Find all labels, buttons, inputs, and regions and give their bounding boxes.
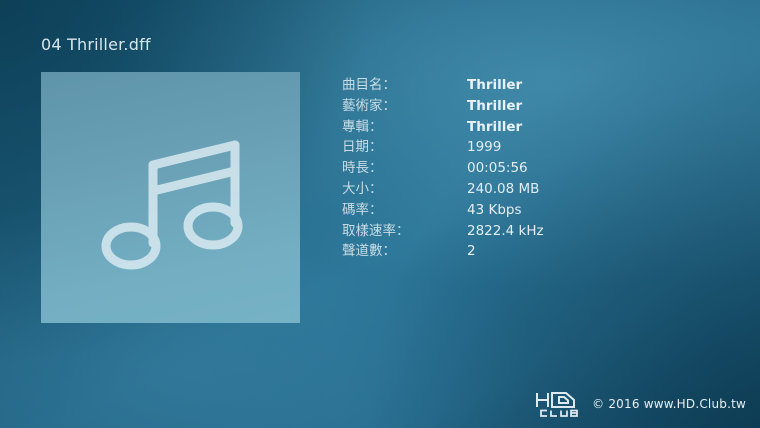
watermark-text: © 2016 www.HD.Club.tw [592,397,746,411]
music-note-icon [97,118,245,278]
album-art-panel [41,72,300,323]
metadata-row-sample-rate: 取樣速率： 2822.4 kHz [342,219,702,240]
metadata-label-album: 專輯： [342,115,467,135]
metadata-row-track-title: 曲目名： Thriller [342,73,702,94]
metadata-label-duration: 時長： [342,156,467,176]
watermark: © 2016 www.HD.Club.tw [535,390,746,418]
metadata-value-date: 1999 [467,139,501,155]
metadata-row-date: 日期： 1999 [342,135,702,156]
metadata-value-filesize: 240.08 MB [467,181,539,197]
metadata-value-track-title: Thriller [467,77,522,93]
metadata-value-album: Thriller [467,119,522,135]
metadata-label-sample-rate: 取樣速率： [342,219,467,239]
hdclub-logo-icon [535,390,583,418]
metadata-label-track-title: 曲目名： [342,73,467,93]
metadata-label-channels: 聲道數： [342,239,467,259]
media-info-screen: 04 Thriller.dff 曲目名： Thriller 藝術家： Thril… [0,0,760,428]
metadata-value-artist: Thriller [467,98,522,114]
metadata-value-sample-rate: 2822.4 kHz [467,223,544,239]
metadata-list: 曲目名： Thriller 藝術家： Thriller 專輯： Thriller… [342,73,702,260]
metadata-row-album: 專輯： Thriller [342,115,702,136]
metadata-value-duration: 00:05:56 [467,160,528,176]
metadata-label-date: 日期： [342,135,467,155]
metadata-label-artist: 藝術家： [342,94,467,114]
page-title: 04 Thriller.dff [41,35,151,54]
metadata-value-bitrate: 43 Kbps [467,202,522,218]
metadata-row-channels: 聲道數： 2 [342,239,702,260]
metadata-label-filesize: 大小： [342,177,467,197]
metadata-row-artist: 藝術家： Thriller [342,94,702,115]
metadata-value-channels: 2 [467,243,476,259]
metadata-row-bitrate: 碼率： 43 Kbps [342,198,702,219]
metadata-label-bitrate: 碼率： [342,198,467,218]
metadata-row-duration: 時長： 00:05:56 [342,156,702,177]
metadata-row-filesize: 大小： 240.08 MB [342,177,702,198]
